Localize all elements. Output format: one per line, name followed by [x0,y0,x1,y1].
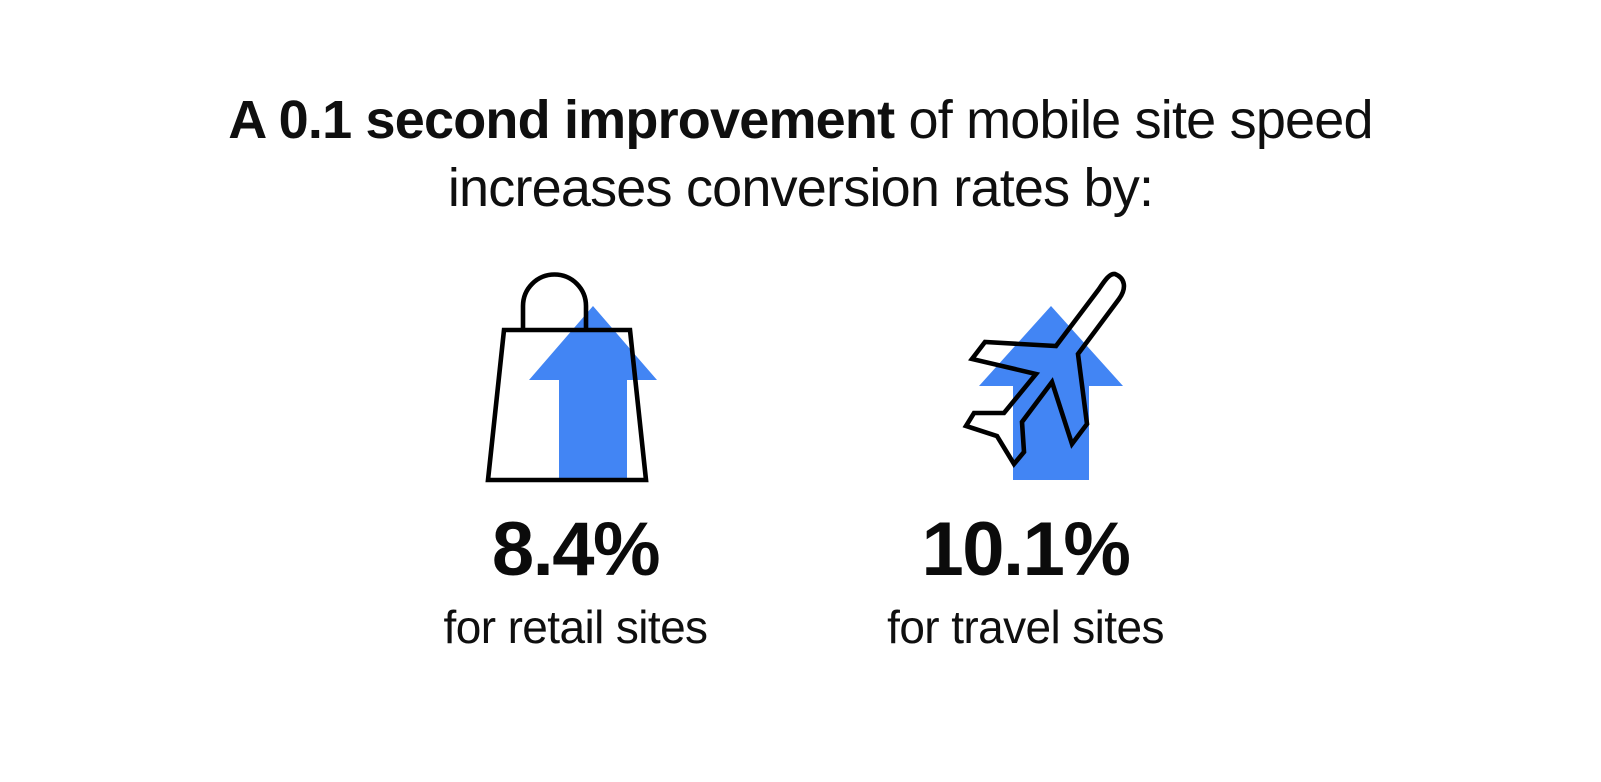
stat-label-travel: for travel sites [887,600,1164,654]
airplane-with-up-arrow-icon [911,258,1141,488]
up-arrow-shape [979,306,1123,480]
stat-travel: 10.1% for travel sites [801,258,1251,654]
stat-value-travel: 10.1% [922,510,1130,590]
infographic-root: A 0.1 second improvement of mobile site … [0,0,1601,782]
shopping-bag-with-up-arrow-icon [461,258,691,488]
stats-row: 8.4% for retail sites 10.1% for travel s… [351,258,1251,654]
stat-value-retail: 8.4% [492,510,659,590]
bag-handle-shape [523,275,586,331]
stat-label-retail: for retail sites [444,600,708,654]
headline-emphasis: A 0.1 second improvement [228,90,894,150]
stat-retail: 8.4% for retail sites [351,258,801,654]
page-title: A 0.1 second improvement of mobile site … [186,86,1416,222]
